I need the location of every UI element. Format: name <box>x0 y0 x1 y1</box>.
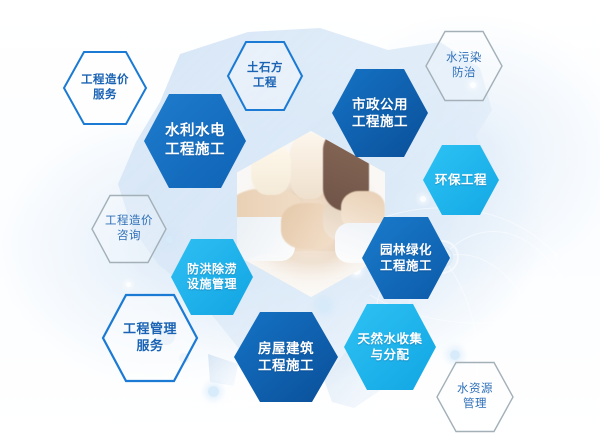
hex-label: 工程造价 服务 <box>81 73 129 102</box>
hex-label: 环保工程 <box>435 172 487 188</box>
hex-node-municipal-public-works[interactable]: 市政公用 工程施工 <box>331 68 429 158</box>
hex-label: 水资源 管理 <box>457 382 493 411</box>
hex-node-engineering-cost-consult[interactable]: 工程造价 咨询 <box>90 194 168 264</box>
hex-node-building-construction[interactable]: 房屋建筑 工程施工 <box>233 311 339 403</box>
hex-node-engineering-cost-service[interactable]: 工程造价 服务 <box>62 50 148 126</box>
hex-node-environmental-protection[interactable]: 环保工程 <box>422 144 500 216</box>
hex-node-natural-water-collection[interactable]: 天然水收集 与分配 <box>343 303 437 391</box>
bokeh-dot <box>450 350 460 360</box>
hexagon-capability-diagram: 水利水电 工程施工 工程造价 服务 土石方 工程 市政公用 <box>0 0 600 439</box>
hex-node-landscaping-works[interactable]: 园林绿化 工程施工 <box>361 216 451 300</box>
hex-node-water-resource-management[interactable]: 水资源 管理 <box>435 361 515 433</box>
hex-label: 市政公用 工程施工 <box>352 96 408 131</box>
hex-label: 天然水收集 与分配 <box>357 331 422 363</box>
hex-label: 水污染 防治 <box>446 51 482 80</box>
hex-label: 房屋建筑 工程施工 <box>258 340 314 375</box>
hex-node-earth-rock-works[interactable]: 土石方 工程 <box>226 40 304 112</box>
bokeh-dot <box>374 410 380 416</box>
hex-label: 园林绿化 工程施工 <box>380 242 432 274</box>
hex-label: 工程造价 咨询 <box>105 214 153 243</box>
bokeh-dot <box>208 386 219 397</box>
hex-label: 水利水电 工程施工 <box>165 122 225 159</box>
bokeh-dot <box>126 282 131 287</box>
hex-label: 土石方 工程 <box>247 61 283 90</box>
hex-node-engineering-mgmt-service[interactable]: 工程管理 服务 <box>101 293 199 383</box>
hex-label: 工程管理 服务 <box>123 321 177 354</box>
hex-label: 防洪除涝 设施管理 <box>187 262 237 293</box>
hex-node-water-pollution-control[interactable]: 水污染 防治 <box>424 30 504 102</box>
